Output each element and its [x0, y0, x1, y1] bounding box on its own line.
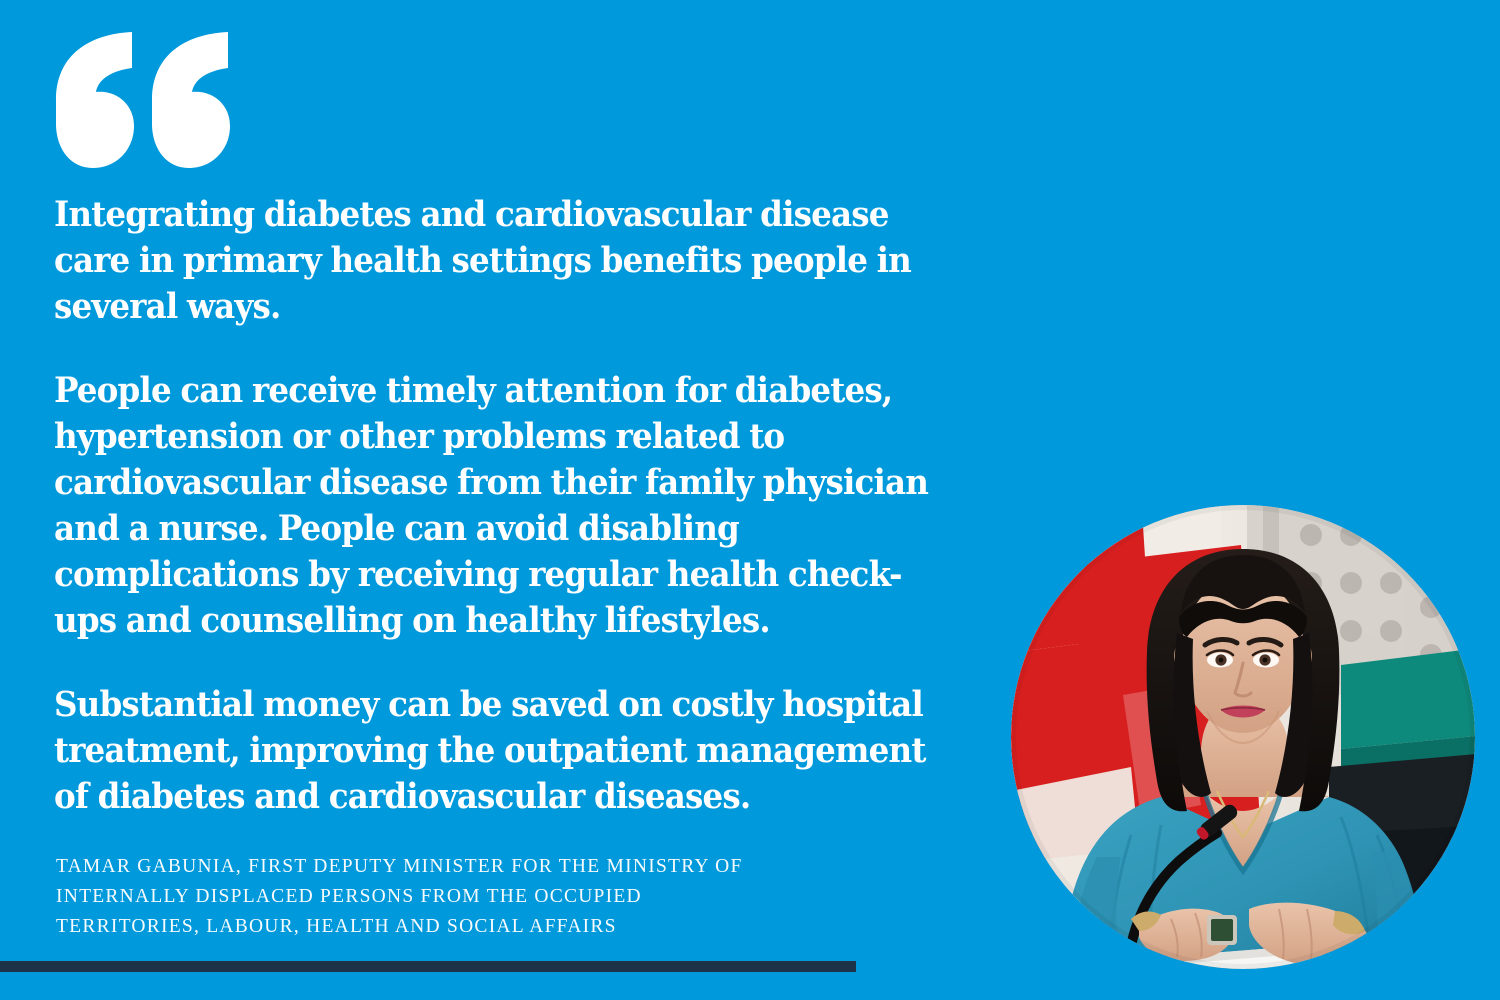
quote-paragraph-1: Integrating diabetes and cardiovascular …	[54, 192, 947, 330]
attribution-line-2: INTERNALLY DISPLACED PERSONS FROM THE OC…	[56, 882, 956, 912]
attribution-line-1: TAMAR GABUNIA, FIRST DEPUTY MINISTER FOR…	[56, 852, 956, 882]
attribution: TAMAR GABUNIA, FIRST DEPUTY MINISTER FOR…	[56, 852, 956, 942]
attribution-line-3: TERRITORIES, LABOUR, HEALTH AND SOCIAL A…	[56, 912, 956, 942]
bottom-divider	[0, 961, 856, 972]
opening-double-quote-icon	[48, 28, 238, 178]
quote-paragraph-3: Substantial money can be saved on costly…	[54, 682, 947, 820]
quote-paragraph-2: People can receive timely attention for …	[54, 368, 947, 644]
speaker-portrait	[1011, 505, 1475, 969]
quote-text: Integrating diabetes and cardiovascular …	[54, 192, 1014, 820]
quote-card: Integrating diabetes and cardiovascular …	[0, 0, 1500, 1000]
